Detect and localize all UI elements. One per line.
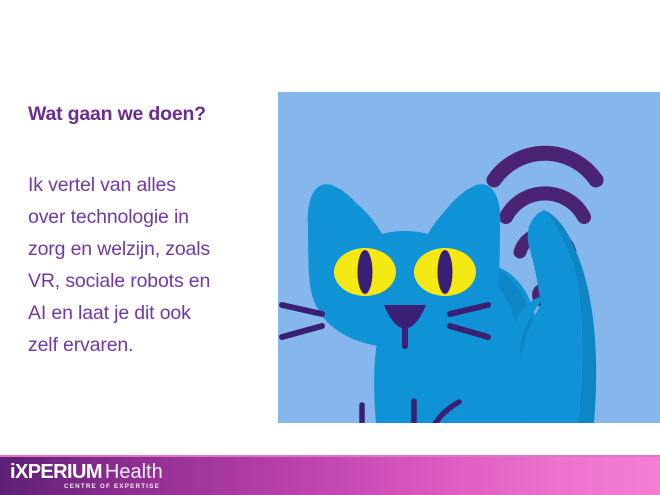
body-line: zorg en welzijn, zoals (28, 233, 278, 265)
logo-ixperium-text: iXPERIUM (10, 461, 102, 483)
cat-pupil-left (358, 250, 373, 294)
body-line: over technologie in (28, 201, 278, 233)
logo-wordmark: iXPERIUMHealth (10, 462, 163, 483)
ixperium-health-logo: iXPERIUMHealth CENTRE OF EXPERTISE (10, 462, 163, 492)
body-line: VR, sociale robots en (28, 265, 278, 297)
slide-canvas: Wat gaan we doen? Ik vertel van alles ov… (0, 0, 660, 495)
text-content-block: Wat gaan we doen? Ik vertel van alles ov… (28, 104, 278, 361)
body-line: Ik vertel van alles (28, 169, 278, 201)
logo-tagline: CENTRE OF EXPERTISE (64, 483, 163, 490)
cat-pupil-right (438, 250, 453, 294)
blue-cat-with-wifi-illustration (278, 92, 660, 423)
body-line: AI en laat je dit ook (28, 297, 278, 329)
logo-health-text: Health (105, 461, 163, 483)
body-line: zelf ervaren. (28, 329, 278, 361)
body-text-block: Ik vertel van alles over technologie in … (28, 169, 278, 361)
page-title: Wat gaan we doen? (28, 104, 278, 125)
footer-brand-bar: iXPERIUMHealth CENTRE OF EXPERTISE (0, 455, 660, 495)
